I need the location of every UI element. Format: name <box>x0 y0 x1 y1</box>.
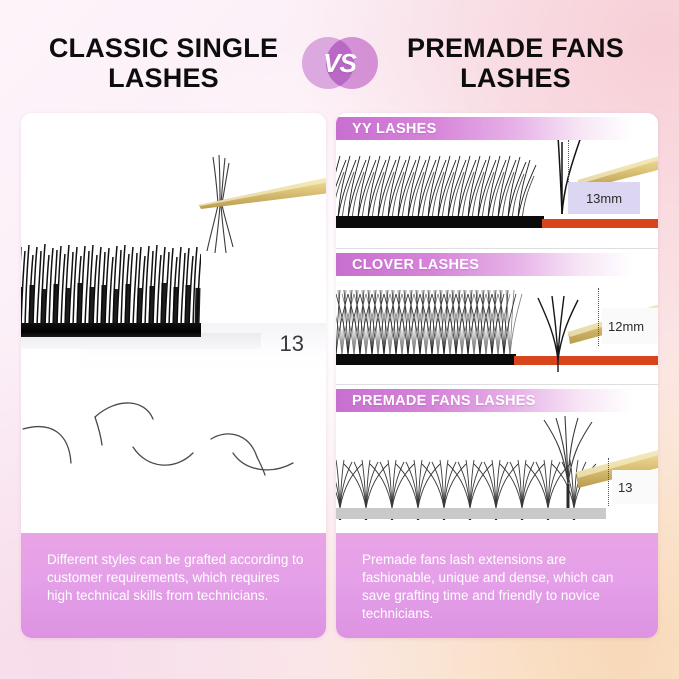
strip-base <box>21 323 201 337</box>
header: CLASSIC SINGLE LASHES VS PREMADE FANS LA… <box>0 22 679 104</box>
size-label-left: 13 <box>280 331 304 357</box>
section-clover-lashes: CLOVER LASHES <box>336 248 658 384</box>
section-yy-lashes: YY LASHES <box>336 113 658 248</box>
section-premade-fans: PREMADE FANS LASHES <box>336 384 658 530</box>
tweezers-icon <box>191 153 326 263</box>
premade-fan-tray-icon <box>336 412 658 530</box>
section-header-yy: YY LASHES <box>336 117 658 140</box>
size-label-clover: 12mm <box>602 308 658 344</box>
classic-single-lashes-card: 13 Different styles can be grafted accor… <box>21 113 326 638</box>
page-title-right: PREMADE FANS LASHES <box>380 33 652 93</box>
premade-fans-lashes-card: YY LASHES <box>336 113 658 638</box>
left-caption: Different styles can be grafted accordin… <box>21 533 326 638</box>
clover-lashes-photo: 12mm <box>336 276 658 384</box>
comparison-infographic: CLASSIC SINGLE LASHES VS PREMADE FANS LA… <box>0 0 679 679</box>
size-label-yy: 13mm <box>568 182 640 214</box>
measure-guide-clover <box>598 288 599 346</box>
measure-guide-premade <box>608 458 609 506</box>
yy-lashes-photo: 13mm <box>336 140 658 248</box>
classic-lash-strip <box>21 245 201 337</box>
vs-badge: VS <box>302 36 378 90</box>
section-title-clover: CLOVER LASHES <box>336 257 479 273</box>
section-title-premade: PREMADE FANS LASHES <box>336 393 536 409</box>
section-title-yy: YY LASHES <box>336 121 437 137</box>
vs-label: VS <box>302 36 378 90</box>
page-title-left: CLASSIC SINGLE LASHES <box>28 33 300 93</box>
lash-curls-icon <box>21 371 326 533</box>
right-caption: Premade fans lash extensions are fashion… <box>336 533 658 638</box>
single-lash-curls-photo <box>21 371 326 533</box>
lash-fibers-icon <box>21 241 201 327</box>
section-header-clover: CLOVER LASHES <box>336 253 658 276</box>
measure-guide-yy <box>568 140 569 188</box>
premade-fans-photo: 13 <box>336 412 658 530</box>
section-header-premade: PREMADE FANS LASHES <box>336 389 658 412</box>
size-label-premade: 13 <box>612 470 658 504</box>
classic-lashes-photo: 13 <box>21 113 326 371</box>
